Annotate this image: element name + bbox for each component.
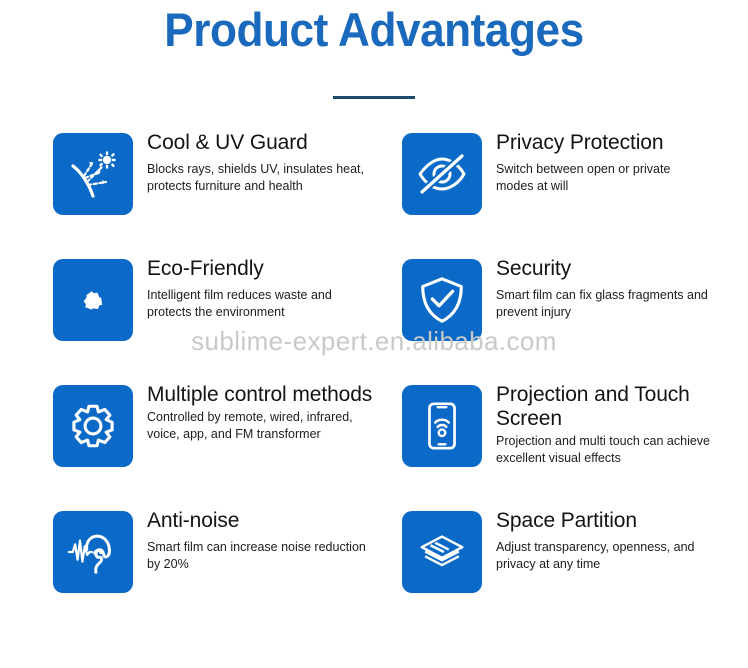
feature-title: Security bbox=[496, 257, 711, 281]
feature-item-multiple-control-methods: Multiple control methods Controlled by r… bbox=[53, 382, 402, 508]
feature-item-cool-uv-guard: Cool & UV Guard Blocks rays, shields UV,… bbox=[53, 130, 402, 256]
feature-title: Privacy Protection bbox=[496, 131, 711, 155]
title-divider bbox=[333, 96, 415, 99]
feature-description: Adjust transparency, openness, and priva… bbox=[496, 533, 711, 573]
feature-description: Controlled by remote, wired, infrared, v… bbox=[147, 407, 379, 443]
feature-item-eco-friendly: Eco-Friendly Intelligent film reduces wa… bbox=[53, 256, 402, 382]
feature-item-anti-noise: Anti-noise Smart film can increase noise… bbox=[53, 508, 402, 634]
feature-text: Anti-noise Smart film can increase noise… bbox=[133, 508, 379, 573]
sun-rays-deflect-icon bbox=[53, 133, 133, 215]
feature-item-privacy-protection: Privacy Protection Switch between open o… bbox=[402, 130, 748, 256]
phone-touch-icon bbox=[402, 385, 482, 467]
feature-title: Anti-noise bbox=[147, 509, 379, 533]
feature-item-space-partition: Space Partition Adjust transparency, ope… bbox=[402, 508, 748, 634]
feature-title: Eco-Friendly bbox=[147, 257, 379, 281]
feature-description: Smart film can fix glass fragments and p… bbox=[496, 281, 711, 321]
feature-text: Multiple control methods Controlled by r… bbox=[133, 382, 379, 443]
feature-description: Blocks rays, shields UV, insulates heat,… bbox=[147, 155, 379, 195]
feature-text: Cool & UV Guard Blocks rays, shields UV,… bbox=[133, 130, 379, 195]
feature-text: Projection and Touch Screen Projection a… bbox=[482, 382, 748, 467]
shield-check-icon bbox=[402, 259, 482, 341]
feature-text: Security Smart film can fix glass fragme… bbox=[482, 256, 711, 321]
recycle-icon bbox=[53, 259, 133, 341]
layers-icon bbox=[402, 511, 482, 593]
feature-title: Cool & UV Guard bbox=[147, 131, 379, 155]
gear-icon bbox=[53, 385, 133, 467]
feature-grid: Cool & UV Guard Blocks rays, shields UV,… bbox=[0, 130, 748, 634]
eye-off-icon bbox=[402, 133, 482, 215]
feature-item-security: Security Smart film can fix glass fragme… bbox=[402, 256, 748, 382]
feature-item-projection-touch-screen: Projection and Touch Screen Projection a… bbox=[402, 382, 748, 508]
feature-text: Space Partition Adjust transparency, ope… bbox=[482, 508, 711, 573]
page-title: Product Advantages bbox=[22, 2, 725, 58]
page-header: Product Advantages bbox=[0, 0, 748, 104]
feature-title: Projection and Touch Screen bbox=[496, 383, 748, 431]
feature-text: Privacy Protection Switch between open o… bbox=[482, 130, 711, 195]
feature-description: Smart film can increase noise reduction … bbox=[147, 533, 379, 573]
feature-title: Space Partition bbox=[496, 509, 711, 533]
title-divider-wrap bbox=[0, 86, 748, 104]
feature-text: Eco-Friendly Intelligent film reduces wa… bbox=[133, 256, 379, 321]
ear-soundwave-icon bbox=[53, 511, 133, 593]
feature-description: Intelligent film reduces waste and prote… bbox=[147, 281, 379, 321]
feature-title: Multiple control methods bbox=[147, 383, 379, 407]
feature-description: Switch between open or private modes at … bbox=[496, 155, 711, 195]
feature-description: Projection and multi touch can achieve e… bbox=[496, 431, 711, 467]
